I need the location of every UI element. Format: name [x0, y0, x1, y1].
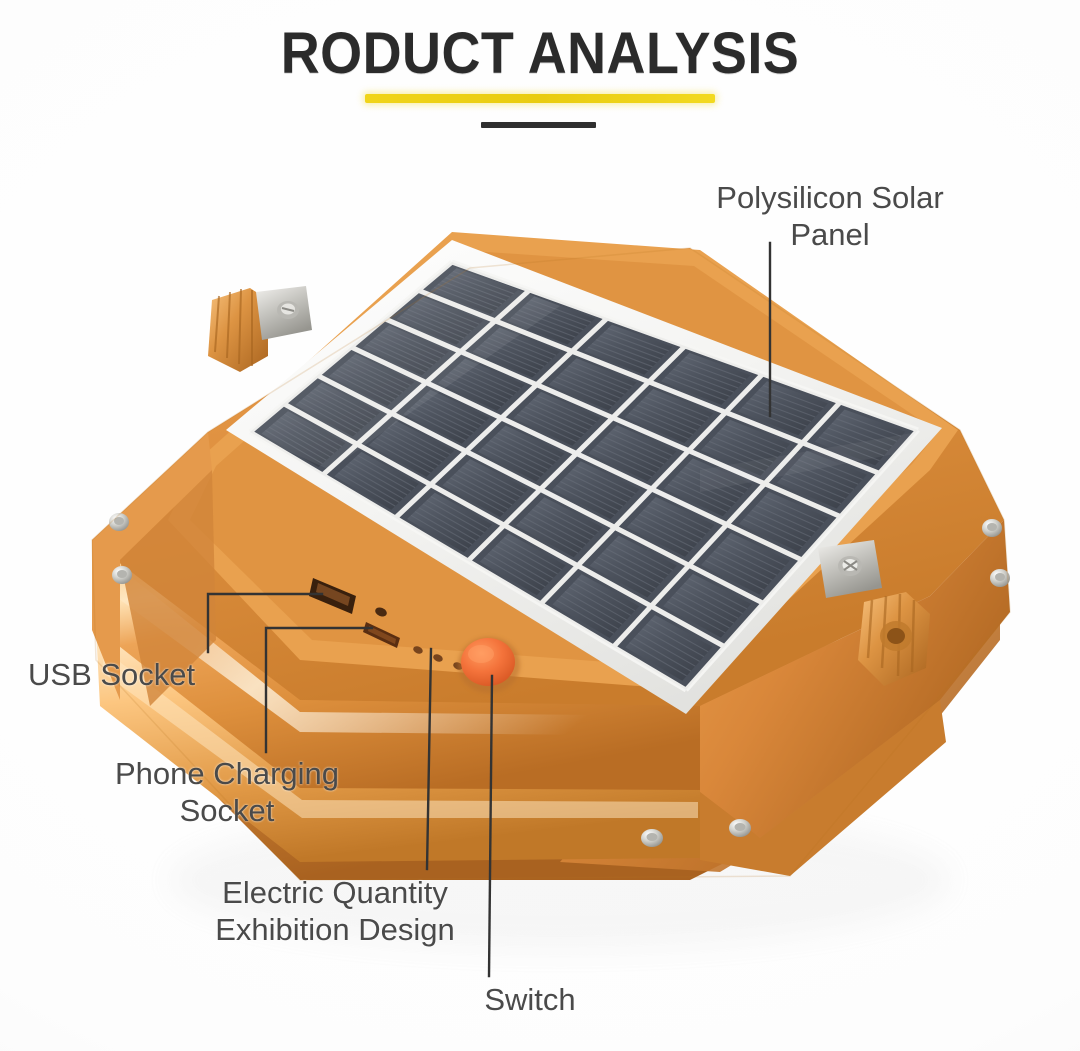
callout-label-usb-socket: USB Socket	[28, 657, 288, 694]
callout-label-switch: Switch	[440, 982, 620, 1019]
callout-label-electric-quantity: Electric Quantity Exhibition Design	[160, 875, 510, 948]
page-title: RODUCT ANALYSIS	[38, 24, 1042, 84]
header-block: RODUCT ANALYSIS	[0, 24, 1080, 84]
leader-electric-quantity	[427, 649, 431, 869]
title-secondary-rule	[481, 122, 596, 128]
callout-label-solar-panel: Polysilicon Solar Panel	[660, 180, 1000, 253]
infographic-canvas: RODUCT ANALYSIS Polysilicon Solar Panel …	[0, 0, 1080, 1051]
title-accent-rule	[365, 94, 715, 103]
callout-label-phone-charging-socket: Phone Charging Socket	[62, 756, 392, 829]
